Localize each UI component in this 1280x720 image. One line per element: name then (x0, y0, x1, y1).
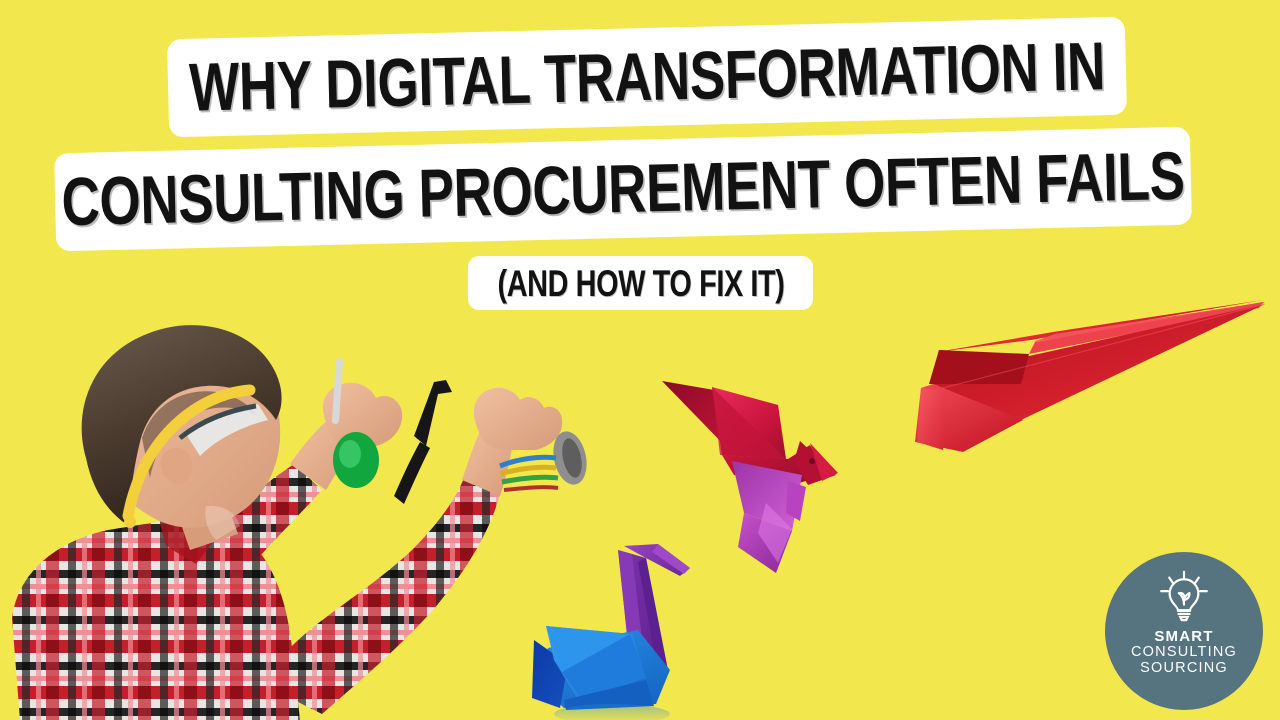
title-line-1-box: WHY DIGITAL TRANSFORMATION IN (167, 17, 1127, 138)
title-line-2-text: CONSULTING PROCUREMENT OFTEN FAILS (61, 142, 1185, 236)
right-hand (474, 388, 562, 450)
thumbnail-canvas: WHY DIGITAL TRANSFORMATION IN CONSULTING… (0, 0, 1280, 720)
logo-line-smart: SMART (1154, 629, 1213, 645)
logo-line-consulting: CONSULTING (1131, 645, 1237, 661)
red-paper-plane (903, 292, 1275, 462)
subtitle-text: (AND HOW TO FIX IT) (497, 265, 784, 302)
title-line-1-text: WHY DIGITAL TRANSFORMATION IN (188, 32, 1105, 122)
lightbulb-icon (1157, 570, 1211, 624)
title-line-2-box: CONSULTING PROCUREMENT OFTEN FAILS (54, 127, 1192, 252)
man-with-screwdriver-photo (0, 318, 620, 720)
logo-badge[interactable]: SMART CONSULTING SOURCING (1105, 552, 1263, 710)
logo-line-sourcing: SOURCING (1140, 661, 1228, 677)
right-sleeve (286, 478, 500, 714)
black-tool (414, 380, 452, 446)
subtitle-box: (AND HOW TO FIX IT) (468, 256, 813, 310)
